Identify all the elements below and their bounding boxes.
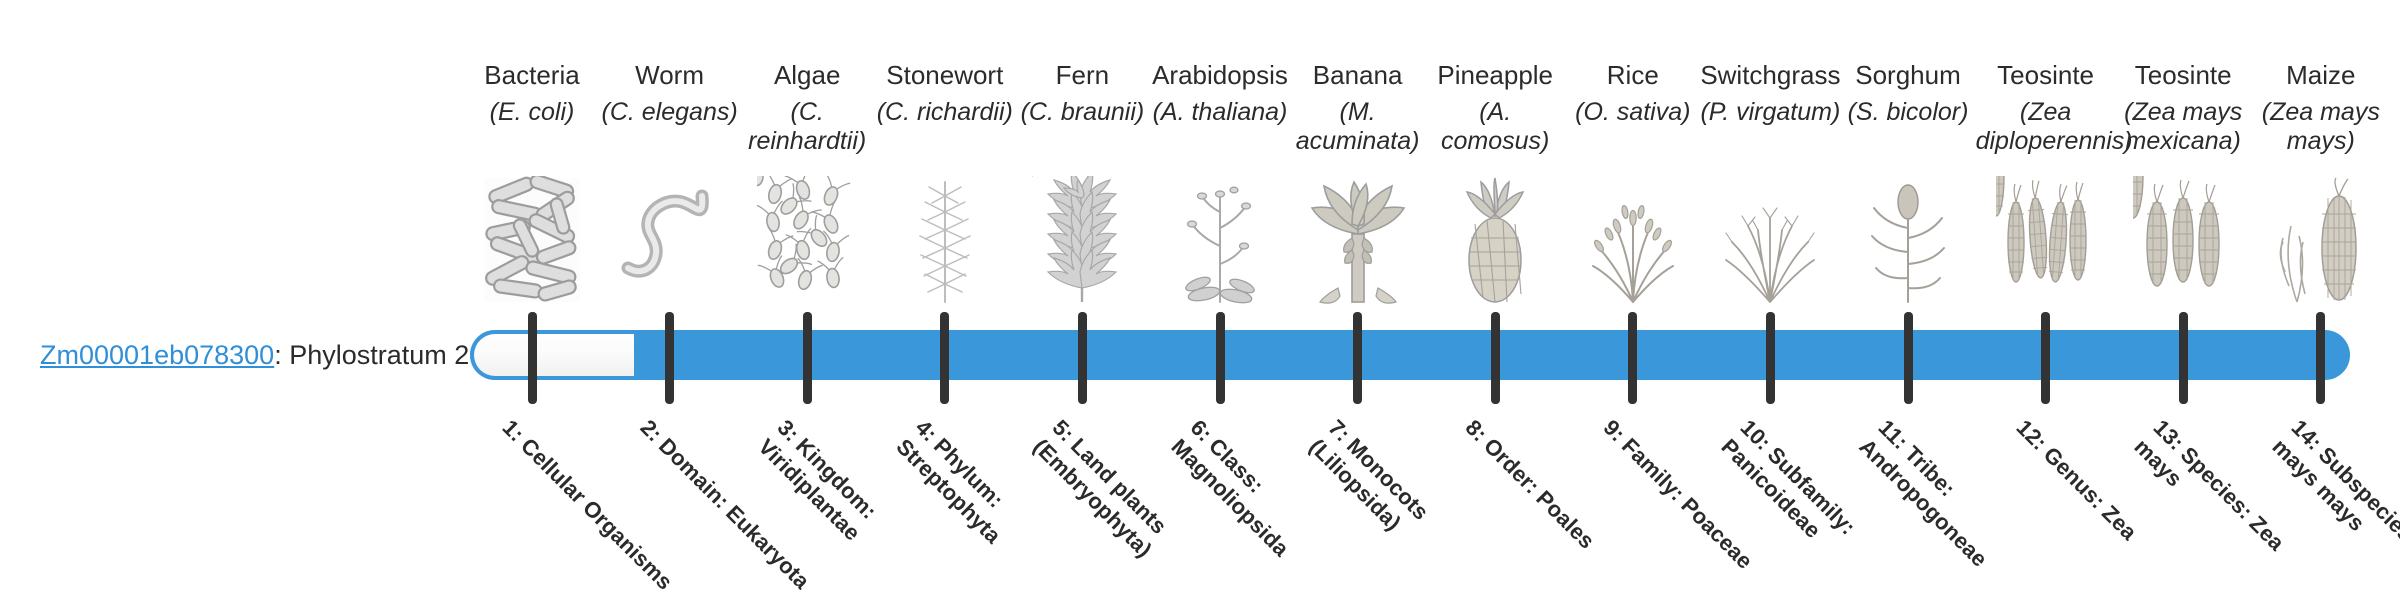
species-column: Maize(Zea mays mays) <box>2252 60 2390 156</box>
fern-frond-icon <box>1013 172 1151 304</box>
banana-tree-icon <box>1289 172 1427 304</box>
species-common-name: Stonewort <box>886 60 1003 90</box>
species-scientific-name: (C. braunii) <box>1012 98 1152 127</box>
species-common-name: Bacteria <box>484 60 579 90</box>
species-scientific-name: (Zea mays mays) <box>2251 98 2391 156</box>
pineapple-icon <box>1426 172 1564 304</box>
species-column: Switchgrass(P. virgatum) <box>1701 60 1839 127</box>
phylostratum-tick-8[interactable] <box>1491 312 1500 404</box>
species-common-name: Algae <box>774 60 841 90</box>
phylostratum-unfilled-track <box>470 330 667 380</box>
species-column: Teosinte(Zea diploperennis) <box>1977 60 2115 156</box>
phylostratum-bar[interactable] <box>470 330 2350 380</box>
phylostratum-tick-13[interactable] <box>2179 312 2188 404</box>
species-scientific-name: (A. comosus) <box>1425 98 1565 156</box>
sorghum-plant-icon <box>1839 172 1977 304</box>
species-common-name: Worm <box>635 60 704 90</box>
species-scientific-name: (Zea mays mexicana) <box>2113 98 2253 156</box>
species-column: Algae(C. reinhardtii) <box>738 60 876 156</box>
phylostratum-tick-4[interactable] <box>940 312 949 404</box>
phylostratum-text: Phylostratum 2 <box>289 340 469 370</box>
species-column: Arabidopsis(A. thaliana) <box>1151 60 1289 127</box>
species-column: Bacteria(E. coli) <box>463 60 601 127</box>
phylostratum-tick-10[interactable] <box>1766 312 1775 404</box>
species-scientific-name: (E. coli) <box>462 98 602 127</box>
gene-phylostratum-label: Zm00001eb078300: Phylostratum 2 <box>40 338 420 372</box>
species-common-name: Teosinte <box>1997 60 2094 90</box>
species-column: Sorghum(S. bicolor) <box>1839 60 1977 127</box>
phylostratum-tick-14[interactable] <box>2316 312 2325 404</box>
species-scientific-name: (C. reinhardtii) <box>737 98 877 156</box>
phylostratum-tick-5[interactable] <box>1078 312 1087 404</box>
phylostratum-timeline: Zm00001eb078300: Phylostratum 2 Bacteria… <box>0 0 2400 580</box>
species-column: Rice(O. sativa) <box>1564 60 1702 127</box>
bacteria-rods-icon <box>463 172 601 304</box>
phylostratum-tick-9[interactable] <box>1628 312 1637 404</box>
species-column: Pineapple(A. comosus) <box>1426 60 1564 156</box>
phylostratum-tick-1[interactable] <box>528 312 537 404</box>
species-common-name: Rice <box>1607 60 1659 90</box>
stonewort-alga-icon <box>876 172 1014 304</box>
teosinte-ears-icon <box>1977 172 2115 304</box>
species-common-name: Sorghum <box>1855 60 1961 90</box>
species-common-name: Maize <box>2286 60 2355 90</box>
arabidopsis-plant-icon <box>1151 172 1289 304</box>
phylostratum-tick-2[interactable] <box>665 312 674 404</box>
species-column: Stonewort(C. richardii) <box>876 60 1014 127</box>
species-common-name: Pineapple <box>1437 60 1553 90</box>
green-algae-cells-icon <box>738 172 876 304</box>
species-column: Banana(M. acuminata) <box>1289 60 1427 156</box>
gene-id-link[interactable]: Zm00001eb078300 <box>40 340 274 370</box>
species-scientific-name: (A. thaliana) <box>1150 98 1290 127</box>
phylostratum-fill-start-cap <box>634 330 668 380</box>
species-scientific-name: (P. virgatum) <box>1700 98 1840 127</box>
species-common-name: Teosinte <box>2135 60 2232 90</box>
species-scientific-name: (O. sativa) <box>1563 98 1703 127</box>
species-common-name: Fern <box>1056 60 1109 90</box>
species-scientific-name: (C. richardii) <box>875 98 1015 127</box>
gene-label-separator: : <box>274 340 289 370</box>
nematode-worm-icon <box>601 172 739 304</box>
phylostratum-tick-7[interactable] <box>1353 312 1362 404</box>
phylostratum-tick-12[interactable] <box>2041 312 2050 404</box>
phylostratum-tick-11[interactable] <box>1904 312 1913 404</box>
species-scientific-name: (M. acuminata) <box>1288 98 1428 156</box>
species-common-name: Arabidopsis <box>1152 60 1288 90</box>
phylostratum-tick-6[interactable] <box>1216 312 1225 404</box>
species-common-name: Banana <box>1313 60 1403 90</box>
species-scientific-name: (S. bicolor) <box>1838 98 1978 127</box>
rice-plant-icon <box>1564 172 1702 304</box>
phylostratum-tick-3[interactable] <box>803 312 812 404</box>
teosinte-mexicana-ears-icon <box>2114 172 2252 304</box>
species-scientific-name: (C. elegans) <box>600 98 740 127</box>
switchgrass-icon <box>1701 172 1839 304</box>
species-column: Fern(C. braunii) <box>1013 60 1151 127</box>
species-column: Teosinte(Zea mays mexicana) <box>2114 60 2252 156</box>
species-scientific-name: (Zea diploperennis) <box>1976 98 2116 156</box>
maize-ear-icon <box>2252 172 2390 304</box>
species-column: Worm(C. elegans) <box>601 60 739 127</box>
species-common-name: Switchgrass <box>1700 60 1840 90</box>
